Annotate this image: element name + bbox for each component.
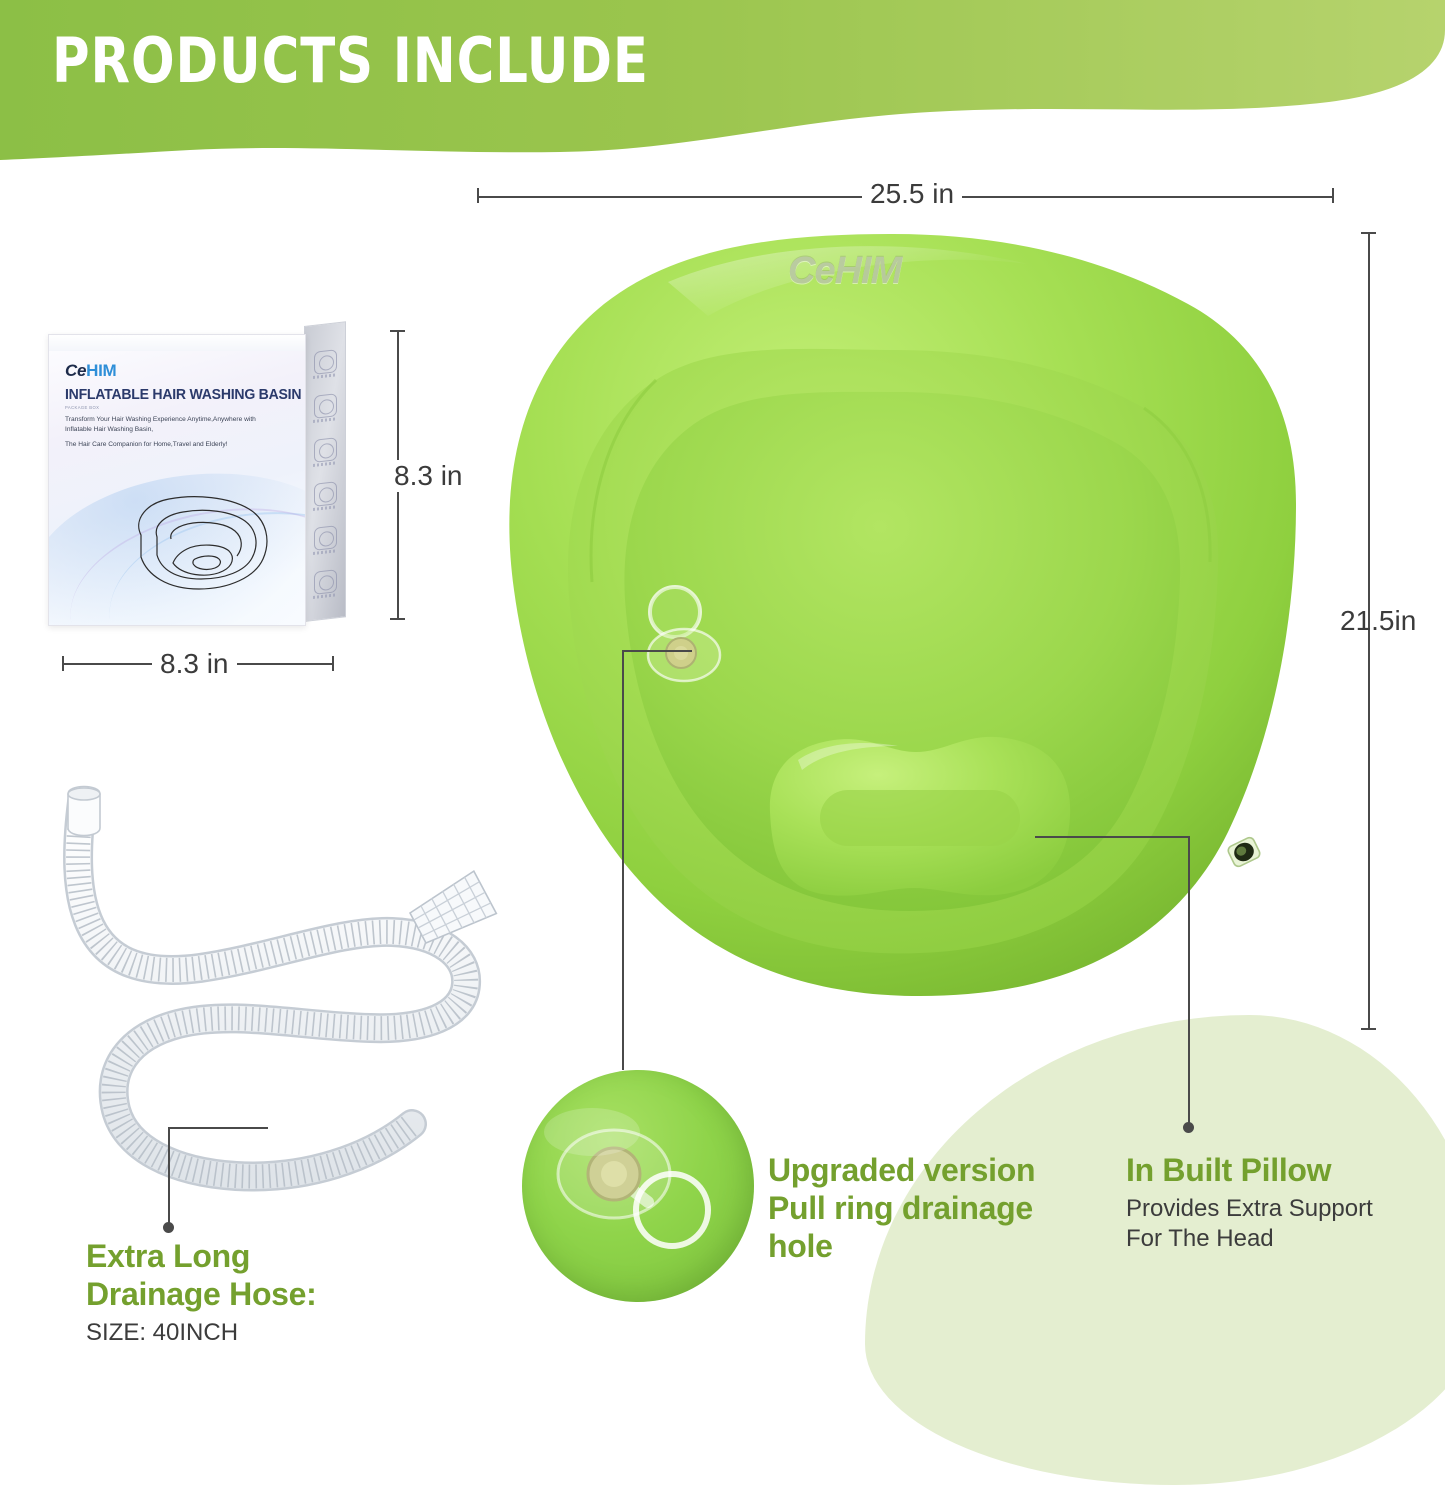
dimension-cap xyxy=(62,656,64,671)
drain-callout-leader-horizontal xyxy=(622,650,692,652)
package-desc-line-1: Transform Your Hair Washing Experience A… xyxy=(65,416,256,423)
callout-sub-line-1: Provides Extra Support xyxy=(1126,1194,1426,1224)
basin-width-label: 25.5 in xyxy=(862,178,962,210)
infographic-canvas: PRODUCTS INCLUDE CeHIM INFLATABLE xyxy=(0,0,1445,1445)
package-feature-label xyxy=(313,373,337,379)
package-brand-logo: CeHIM xyxy=(65,361,116,381)
package-feature-icon xyxy=(314,349,337,375)
package-desc-line-2: Inflatable Hair Washing Basin, xyxy=(65,426,153,433)
callout-title: Extra Long Drainage Hose: xyxy=(86,1238,386,1314)
dimension-cap xyxy=(1361,1028,1376,1030)
package-feature-icon xyxy=(314,393,337,419)
basin-height-label: 21.5in xyxy=(1332,605,1424,637)
callout-title-line-1: In Built Pillow xyxy=(1126,1152,1426,1190)
built-in-pillow xyxy=(770,737,1070,896)
package-desc-line-3: The Hair Care Companion for Home,Travel … xyxy=(65,441,227,448)
package-feature-icon xyxy=(314,437,337,463)
callout-title: In Built Pillow xyxy=(1126,1152,1426,1190)
callout-pull-ring-drain: Upgraded version Pull ring drainage hole xyxy=(768,1152,1078,1265)
callout-subtitle: Provides Extra Support For The Head xyxy=(1126,1194,1426,1254)
dimension-cap xyxy=(390,618,405,620)
pillow-callout-leader-vertical xyxy=(1188,836,1190,1126)
package-feature-icon xyxy=(314,481,337,507)
hose-callout-leader-vertical xyxy=(168,1127,170,1227)
pillow-callout-leader-horizontal xyxy=(1035,836,1190,838)
dimension-cap xyxy=(390,330,405,332)
callout-title: Upgraded version Pull ring drainage hole xyxy=(768,1152,1078,1265)
package-feature-label xyxy=(313,461,337,467)
brand-logo-prefix: Ce xyxy=(65,361,86,380)
hose-open-end xyxy=(68,787,100,836)
callout-sub-line-2: For The Head xyxy=(1126,1224,1426,1254)
drain-callout-leader-vertical xyxy=(622,650,624,1070)
package-product-illustration xyxy=(111,483,283,605)
brand-logo-suffix: HIM xyxy=(86,361,116,380)
dimension-cap xyxy=(1361,232,1376,234)
package-description: Transform Your Hair Washing Experience A… xyxy=(65,415,283,456)
dimension-cap xyxy=(1332,188,1334,203)
package-box-image: CeHIM INFLATABLE HAIR WASHING BASIN PACK… xyxy=(48,320,348,630)
drainage-hose-image xyxy=(20,780,510,1200)
pillow-callout-dot xyxy=(1183,1122,1194,1133)
callout-title-line-2: Pull ring drainage xyxy=(768,1190,1078,1228)
package-feature-label xyxy=(313,549,337,555)
detail-highlight xyxy=(544,1108,640,1156)
callout-subtitle: SIZE: 40INCH xyxy=(86,1318,386,1348)
callout-title-line-2: Drainage Hose: xyxy=(86,1276,386,1314)
package-feature-icon xyxy=(314,525,337,551)
pillow-center-indent xyxy=(820,790,1020,846)
package-feature-label xyxy=(313,417,337,423)
callout-in-built-pillow: In Built Pillow Provides Extra Support F… xyxy=(1126,1152,1426,1254)
callout-title-line-1: Upgraded version xyxy=(768,1152,1078,1190)
callout-sub-line-1: SIZE: 40INCH xyxy=(86,1318,386,1348)
callout-title-line-1: Extra Long xyxy=(86,1238,386,1276)
package-feature-label xyxy=(313,505,337,511)
package-feature-label xyxy=(313,593,337,599)
drain-hole-detail-zoom xyxy=(522,1070,754,1302)
package-front-face: CeHIM INFLATABLE HAIR WASHING BASIN PACK… xyxy=(48,334,306,626)
package-top-edge xyxy=(49,335,305,351)
basin-brand-logo: CeHIM xyxy=(788,250,901,293)
dimension-cap xyxy=(477,188,479,203)
package-height-label: 8.3 in xyxy=(386,460,471,492)
package-width-label: 8.3 in xyxy=(152,648,237,680)
package-subheading: PACKAGE BOX xyxy=(65,405,99,410)
package-product-name: INFLATABLE HAIR WASHING BASIN xyxy=(65,387,286,403)
package-feature-icon xyxy=(314,569,337,595)
air-valve xyxy=(1227,836,1262,868)
hose-callout-dot xyxy=(163,1222,174,1233)
drain-plug-center xyxy=(601,1161,627,1187)
dimension-cap xyxy=(332,656,334,671)
inflatable-basin-image: CeHIM xyxy=(468,212,1318,1012)
callout-drainage-hose: Extra Long Drainage Hose: SIZE: 40INCH xyxy=(86,1238,386,1348)
package-side-panel xyxy=(304,321,346,622)
page-title: PRODUCTS INCLUDE xyxy=(52,24,649,97)
callout-title-line-3: hole xyxy=(768,1228,1078,1266)
hose-callout-leader-horizontal xyxy=(168,1127,268,1129)
